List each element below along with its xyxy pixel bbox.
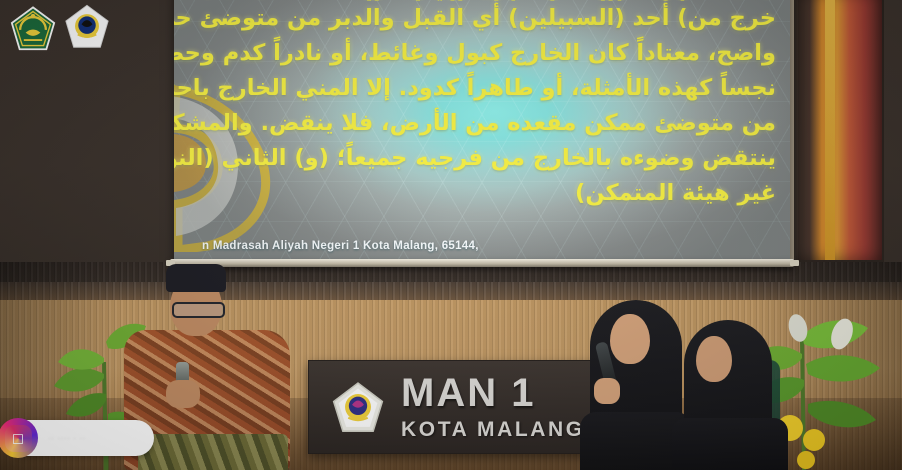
slide-arabic-text: خرج من) أحد (السبيلين) أي القبل والدبر م… [190,0,776,212]
woman1-hand [594,378,620,404]
slide-caption: n Madrasah Aliyah Negeri 1 Kota Malang, … [202,240,479,252]
projection-screen: خرج من) أحد (السبيلين) أي القبل والدبر م… [174,0,790,262]
man-hand [166,380,200,408]
slide-line-3: نجساً كهذه الأمثلة، أو طاهراً كدود. إلا … [190,71,776,106]
slide-line-1: خرج من) أحد (السبيلين) أي القبل والدبر م… [190,1,776,36]
woman2-face [696,336,732,382]
video-frame: خرج من) أحد (السبيلين) أي القبل والدبر م… [0,0,902,470]
woman1-face [610,314,650,364]
instagram-icon[interactable]: ◻ [0,418,38,458]
instagram-handle: ·· ···· · ·· [48,434,86,443]
person-woman-seated [672,320,790,470]
slide-line-4: من متوضئ ممكن مقعده من الأرض، فلا ينقض. … [190,106,776,141]
wall-art-stripe [825,0,835,260]
plaque-text: MAN 1 KOTA MALANG [401,373,585,442]
slide-line-clipped: خرج من) أحد (السبيلين) أي القبل والدبر م… [190,0,776,1]
woman2-body [672,418,788,470]
tut-wuri-handayani-logo-icon [64,4,110,50]
man-peci-cap [166,264,226,292]
kemenag-logo-icon [10,6,56,52]
man-sarong [138,434,288,470]
instagram-glyph: ◻ [5,425,32,452]
man1-school-logo-icon [331,381,385,435]
instagram-badge[interactable]: ◻ ·· ···· · ·· [8,420,154,456]
slide-line-5: ينتقض وضوءه بالخارج من فرجيه جميعاً؛ (و)… [190,141,776,176]
venue-plaque: MAN 1 KOTA MALANG [308,360,610,454]
slide-line-6: غير هيئة المتمكن) [190,176,776,211]
plaque-subtitle: KOTA MALANG [401,418,585,442]
slide-line-2: واضح، معتاداً كان الخارج كبول وغائط، أو … [190,36,776,71]
man-glasses [172,302,225,318]
plaque-title: MAN 1 [401,373,585,413]
wall-art-panel [794,0,884,262]
screen-bar-cap-right [790,260,799,266]
